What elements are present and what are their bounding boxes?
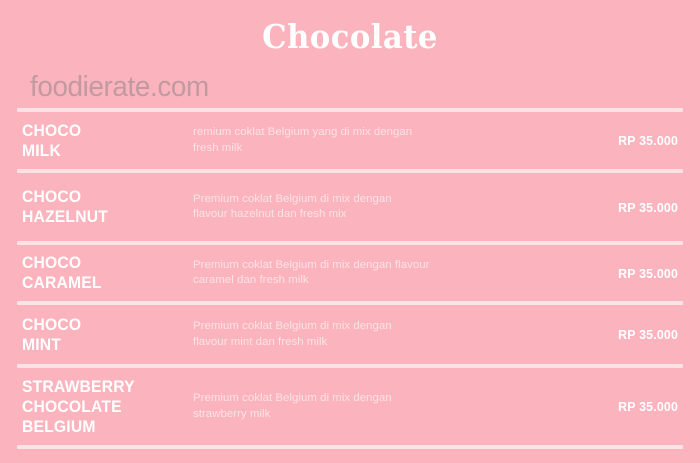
item-name: CHOCO MINT: [22, 315, 184, 355]
page-title: Chocolate: [25, 17, 676, 57]
menu-item-choco-caramel[interactable]: CHOCO CARAMEL Premium coklat Belgium di …: [0, 245, 700, 301]
menu-item-choco-hazelnut[interactable]: CHOCO HAZELNUT Premium coklat Belgium di…: [0, 173, 700, 241]
menu-item-choco-milk[interactable]: CHOCO MILK remium coklat Belgium yang di…: [0, 112, 700, 169]
item-description: Premium coklat Belgium di mix dengan str…: [193, 391, 574, 422]
bottom-spacer: [0, 449, 700, 463]
item-description: remium coklat Belgium yang di mix dengan…: [193, 125, 574, 156]
item-description: Premium coklat Belgium di mix dengan fla…: [193, 319, 574, 350]
item-price: RP 35.000: [579, 398, 678, 415]
item-price: RP 35.000: [579, 326, 678, 343]
menu-item-strawberry-chocolate-belgium[interactable]: STRAWBERRY CHOCOLATE BELGIUM Premium cok…: [0, 368, 700, 445]
item-name: CHOCO CARAMEL: [22, 253, 184, 293]
item-name: CHOCO MILK: [22, 121, 184, 161]
menu-item-choco-mint[interactable]: CHOCO MINT Premium coklat Belgium di mix…: [0, 305, 700, 364]
item-price: RP 35.000: [579, 132, 678, 149]
item-name: CHOCO HAZELNUT: [22, 187, 184, 227]
menu-item-list: CHOCO MILK remium coklat Belgium yang di…: [0, 108, 700, 463]
item-price: RP 35.000: [579, 199, 678, 216]
item-description: Premium coklat Belgium di mix dengan fla…: [193, 192, 574, 223]
item-price: RP 35.000: [579, 265, 678, 282]
menu-header: Chocolate foodierate.com: [0, 0, 700, 108]
site-watermark: foodierate.com: [30, 70, 209, 104]
item-name: STRAWBERRY CHOCOLATE BELGIUM: [22, 377, 184, 437]
menu-page: { "header": { "title": "Chocolate", "wat…: [0, 0, 700, 463]
item-description: Premium coklat Belgium di mix dengan fla…: [193, 258, 574, 289]
